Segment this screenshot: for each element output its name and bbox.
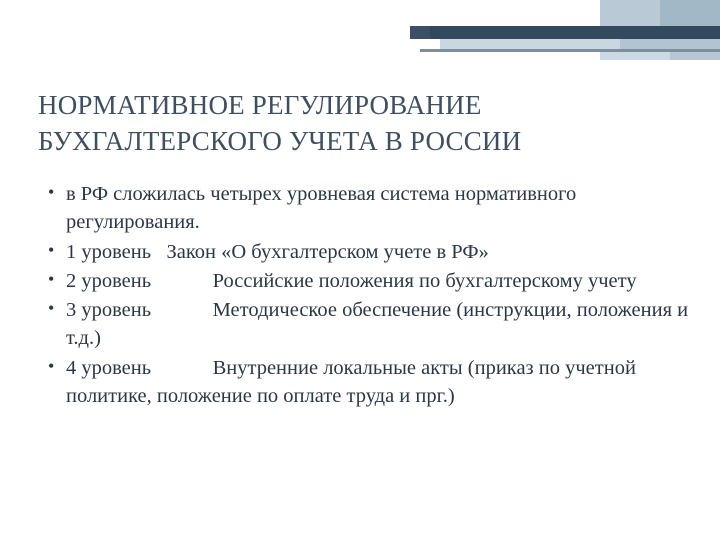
bullet-icon: • <box>48 180 54 205</box>
deco-bar-bottom-1 <box>600 52 720 60</box>
deco-bar-dark-2 <box>430 26 720 39</box>
bullet-icon: • <box>48 296 54 321</box>
list-item-text: 2 уровень Российские положения по бухгал… <box>66 270 637 292</box>
list-item-text: в РФ сложилась четырех уровневая система… <box>66 183 581 233</box>
list-item: • 4 уровень Внутренние локальные акты (п… <box>30 354 702 411</box>
bullet-list: • в РФ сложилась четырех уровневая систе… <box>30 180 702 411</box>
list-item-text: 1 уровень Закон «О бухгалтерском учете в… <box>66 241 489 263</box>
deco-bar-light-1 <box>600 0 720 26</box>
deco-bar-mid-1 <box>440 39 720 49</box>
deco-bar-dark-1 <box>410 26 720 39</box>
bullet-icon: • <box>48 238 54 263</box>
list-item: • 1 уровень Закон «О бухгалтерском учете… <box>30 238 702 266</box>
slide: НОРМАТИВНОЕ РЕГУЛИРОВАНИЕ БУХГАЛТЕРСКОГО… <box>0 0 720 540</box>
header-decoration <box>0 0 720 70</box>
list-item: • 2 уровень Российские положения по бухг… <box>30 267 702 295</box>
deco-bar-bottom-2 <box>670 52 720 60</box>
list-item-text: 3 уровень Методическое обеспечение (инст… <box>66 299 693 349</box>
deco-bar-light-2 <box>660 0 720 26</box>
bullet-icon: • <box>48 267 54 292</box>
slide-title: НОРМАТИВНОЕ РЕГУЛИРОВАНИЕ БУХГАЛТЕРСКОГО… <box>38 88 688 159</box>
list-item: • в РФ сложилась четырех уровневая систе… <box>30 180 702 237</box>
deco-bar-mid-2 <box>620 39 720 49</box>
deco-bar-line <box>420 49 720 52</box>
list-item-text: 4 уровень Внутренние локальные акты (при… <box>66 357 641 407</box>
bullet-icon: • <box>48 354 54 379</box>
list-item: • 3 уровень Методическое обеспечение (ин… <box>30 296 702 353</box>
